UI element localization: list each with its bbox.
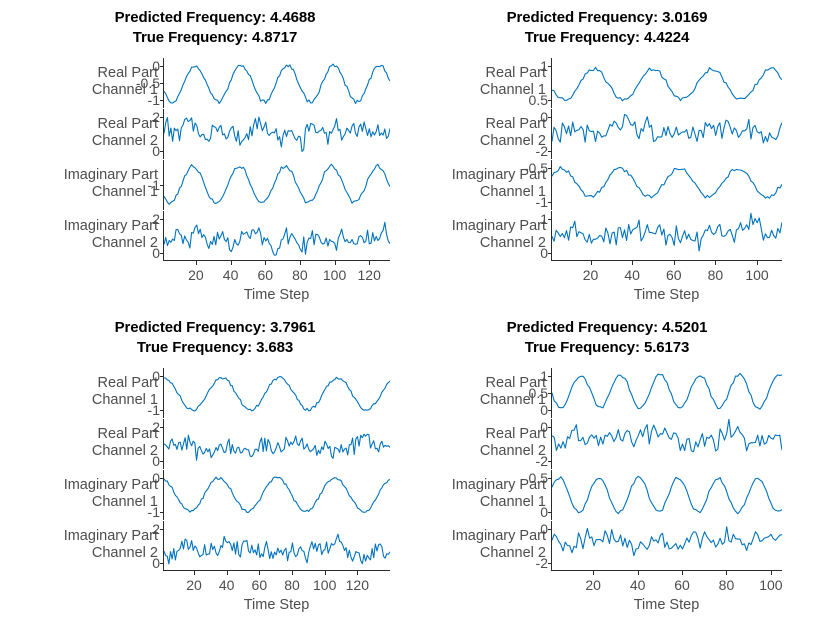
y-tick-label: 0: [152, 558, 160, 568]
x-tick-label: 80: [719, 577, 735, 593]
waveform-polyline: [552, 419, 782, 451]
y-tick-mark: [548, 117, 552, 118]
signal-trace: [552, 160, 782, 210]
panel-title: Predicted Frequency: 4.4688True Frequenc…: [0, 8, 430, 48]
y-tick-mark: [160, 83, 164, 84]
x-tick-labels: 20406080100: [551, 267, 782, 285]
y-tick-mark: [160, 410, 164, 411]
y-tick-mark: [160, 478, 164, 479]
subplot-group-bottom-left: Predicted Frequency: 3.7961True Frequenc…: [0, 318, 430, 618]
y-tick-mark: [548, 202, 552, 203]
x-tick-label: 20: [186, 577, 202, 593]
x-tick-mark: [591, 261, 592, 265]
waveform-polyline: [552, 67, 782, 101]
x-tick-mark: [335, 261, 336, 265]
y-tick-label: -1: [148, 95, 160, 105]
x-tick-mark: [632, 261, 633, 265]
y-tick-mark: [548, 253, 552, 254]
y-tick-labels: 20: [120, 521, 160, 571]
y-tick-label: 2: [152, 524, 160, 534]
x-tick-label: 100: [313, 577, 336, 593]
x-tick-mark: [325, 571, 326, 575]
x-axis-title: Time Step: [163, 287, 390, 303]
y-tick-mark: [160, 427, 164, 428]
y-tick-label: 0.5: [529, 388, 548, 398]
figure-canvas: Predicted Frequency: 4.4688True Frequenc…: [0, 0, 840, 630]
predicted-frequency-label: Predicted Frequency: 3.0169: [392, 8, 822, 28]
y-tick-label: 0.5: [529, 473, 548, 483]
x-tick-mark: [757, 261, 758, 265]
y-tick-labels: -1: [120, 160, 160, 210]
subplot-group-top-left: Predicted Frequency: 4.4688True Frequenc…: [0, 8, 430, 308]
x-tick-mark: [638, 571, 639, 575]
y-tick-label: 2: [152, 112, 160, 122]
x-tick-labels: 20406080100120: [163, 577, 390, 595]
x-tick-mark: [300, 261, 301, 265]
y-tick-mark: [160, 185, 164, 186]
y-tick-mark: [548, 427, 552, 428]
y-tick-label: 0: [540, 405, 548, 415]
y-tick-label: 0: [152, 248, 160, 258]
y-tick-labels: 10: [508, 211, 548, 261]
y-tick-labels: 20: [120, 211, 160, 261]
x-tick-mark: [726, 571, 727, 575]
x-tick-mark: [674, 261, 675, 265]
x-axis-title: Time Step: [551, 287, 782, 303]
axes-bottom-right-1: [551, 419, 782, 469]
y-tick-label: -1: [536, 197, 548, 207]
y-tick-label: 0: [540, 524, 548, 534]
y-tick-mark: [548, 66, 552, 67]
x-tick-label: 120: [358, 267, 381, 283]
y-tick-mark: [548, 168, 552, 169]
y-tick-labels: -0.5-1: [508, 160, 548, 210]
y-tick-mark: [548, 478, 552, 479]
y-tick-labels: 10.5: [508, 58, 548, 108]
predicted-frequency-label: Predicted Frequency: 4.4688: [0, 8, 430, 28]
y-tick-mark: [548, 461, 552, 462]
x-tick-label: 80: [708, 267, 724, 283]
waveform-polyline: [552, 213, 782, 251]
y-tick-label: -1: [148, 507, 160, 517]
y-tick-mark: [548, 100, 552, 101]
axes-bottom-right-3: [551, 521, 782, 571]
y-tick-mark: [160, 219, 164, 220]
x-tick-mark: [265, 261, 266, 265]
y-tick-label: 0: [152, 473, 160, 483]
x-tick-label: 40: [223, 267, 239, 283]
x-tick-mark: [369, 261, 370, 265]
y-tick-mark: [548, 376, 552, 377]
true-frequency-label: True Frequency: 3.683: [0, 338, 430, 358]
y-tick-label: -1: [148, 405, 160, 415]
x-tick-label: 100: [759, 577, 782, 593]
y-tick-labels: 0-1: [120, 368, 160, 418]
x-tick-mark: [715, 261, 716, 265]
axes-bottom-right-2: [551, 470, 782, 520]
x-tick-label: 80: [292, 267, 308, 283]
y-tick-label: 0: [152, 456, 160, 466]
y-tick-label: -0.5: [524, 163, 548, 173]
y-tick-mark: [548, 151, 552, 152]
waveform-polyline: [552, 167, 782, 199]
y-tick-labels: 0-2: [508, 521, 548, 571]
y-tick-mark: [548, 393, 552, 394]
y-tick-label: 0: [152, 146, 160, 156]
y-tick-label: 1: [540, 214, 548, 224]
axes-top-right-3: [551, 211, 782, 261]
x-tick-mark: [682, 571, 683, 575]
panel-title: Predicted Frequency: 3.0169True Frequenc…: [392, 8, 822, 48]
x-tick-labels: 20406080100: [551, 577, 782, 595]
y-tick-label: -2: [536, 146, 548, 156]
signal-trace: [552, 211, 782, 260]
panel-title: Predicted Frequency: 4.5201True Frequenc…: [392, 318, 822, 358]
signal-trace: [552, 58, 782, 108]
x-tick-mark: [357, 571, 358, 575]
y-tick-labels: 20: [120, 109, 160, 159]
x-tick-labels: 20406080100120: [163, 267, 390, 285]
y-tick-mark: [160, 529, 164, 530]
axes-top-right-1: [551, 109, 782, 159]
true-frequency-label: True Frequency: 4.4224: [392, 28, 822, 48]
waveform-polyline: [552, 476, 782, 513]
x-tick-mark: [259, 571, 260, 575]
signal-trace: [552, 368, 782, 418]
y-tick-label: -2: [536, 456, 548, 466]
y-tick-mark: [160, 100, 164, 101]
x-tick-mark: [593, 571, 594, 575]
y-tick-label: -0.5: [136, 78, 160, 88]
y-tick-label: 0: [540, 112, 548, 122]
y-tick-label: -1: [148, 180, 160, 190]
x-tick-mark: [227, 571, 228, 575]
waveform-polyline: [552, 527, 782, 556]
y-tick-mark: [548, 219, 552, 220]
y-tick-mark: [160, 376, 164, 377]
waveform-polyline: [552, 114, 782, 143]
y-tick-label: 0: [152, 61, 160, 71]
predicted-frequency-label: Predicted Frequency: 3.7961: [0, 318, 430, 338]
axes-top-right-0: [551, 58, 782, 108]
x-tick-label: 120: [346, 577, 369, 593]
y-tick-label: 2: [152, 422, 160, 432]
y-tick-mark: [160, 563, 164, 564]
x-tick-label: 20: [583, 267, 599, 283]
x-tick-label: 60: [252, 577, 268, 593]
y-tick-mark: [548, 410, 552, 411]
x-tick-label: 100: [323, 267, 346, 283]
x-tick-label: 60: [257, 267, 273, 283]
y-tick-mark: [160, 151, 164, 152]
y-tick-mark: [160, 461, 164, 462]
y-tick-label: -2: [536, 558, 548, 568]
axes-top-right-2: [551, 160, 782, 210]
y-tick-label: 1: [540, 61, 548, 71]
x-tick-label: 40: [624, 267, 640, 283]
y-tick-mark: [548, 512, 552, 513]
x-axis-title: Time Step: [163, 597, 390, 613]
x-tick-label: 20: [188, 267, 204, 283]
x-tick-label: 60: [666, 267, 682, 283]
y-tick-mark: [160, 66, 164, 67]
y-tick-labels: 0-1: [120, 470, 160, 520]
y-tick-labels: 0-0.5-1: [120, 58, 160, 108]
y-tick-label: 0: [540, 507, 548, 517]
waveform-polyline: [552, 373, 782, 409]
x-tick-mark: [196, 261, 197, 265]
predicted-frequency-label: Predicted Frequency: 4.5201: [392, 318, 822, 338]
x-tick-label: 100: [745, 267, 768, 283]
y-tick-labels: 10.50: [508, 368, 548, 418]
y-tick-mark: [548, 563, 552, 564]
y-tick-mark: [160, 117, 164, 118]
x-tick-label: 80: [284, 577, 300, 593]
x-tick-mark: [194, 571, 195, 575]
y-tick-mark: [160, 253, 164, 254]
x-axis-title: Time Step: [551, 597, 782, 613]
x-tick-label: 60: [674, 577, 690, 593]
panel-title: Predicted Frequency: 3.7961True Frequenc…: [0, 318, 430, 358]
x-tick-label: 20: [585, 577, 601, 593]
x-tick-mark: [292, 571, 293, 575]
y-tick-label: 2: [152, 214, 160, 224]
y-tick-label: 0: [540, 248, 548, 258]
x-tick-mark: [231, 261, 232, 265]
signal-trace: [552, 470, 782, 520]
x-tick-label: 40: [219, 577, 235, 593]
x-tick-label: 40: [630, 577, 646, 593]
y-tick-labels: 0.50: [508, 470, 548, 520]
y-tick-label: 0: [152, 371, 160, 381]
y-tick-labels: 20: [120, 419, 160, 469]
y-tick-mark: [548, 529, 552, 530]
true-frequency-label: True Frequency: 4.8717: [0, 28, 430, 48]
y-tick-labels: 0-2: [508, 109, 548, 159]
y-tick-label: 0: [540, 422, 548, 432]
y-tick-label: 1: [540, 371, 548, 381]
subplot-group-bottom-right: Predicted Frequency: 4.5201True Frequenc…: [392, 318, 822, 618]
y-tick-label: 0.5: [529, 95, 548, 105]
signal-trace: [552, 419, 782, 469]
signal-trace: [552, 521, 782, 570]
signal-trace: [552, 109, 782, 159]
subplot-group-top-right: Predicted Frequency: 3.0169True Frequenc…: [392, 8, 822, 308]
axes-bottom-right-0: [551, 368, 782, 418]
y-tick-mark: [160, 512, 164, 513]
x-tick-mark: [771, 571, 772, 575]
true-frequency-label: True Frequency: 5.6173: [392, 338, 822, 358]
y-tick-labels: 0-2: [508, 419, 548, 469]
